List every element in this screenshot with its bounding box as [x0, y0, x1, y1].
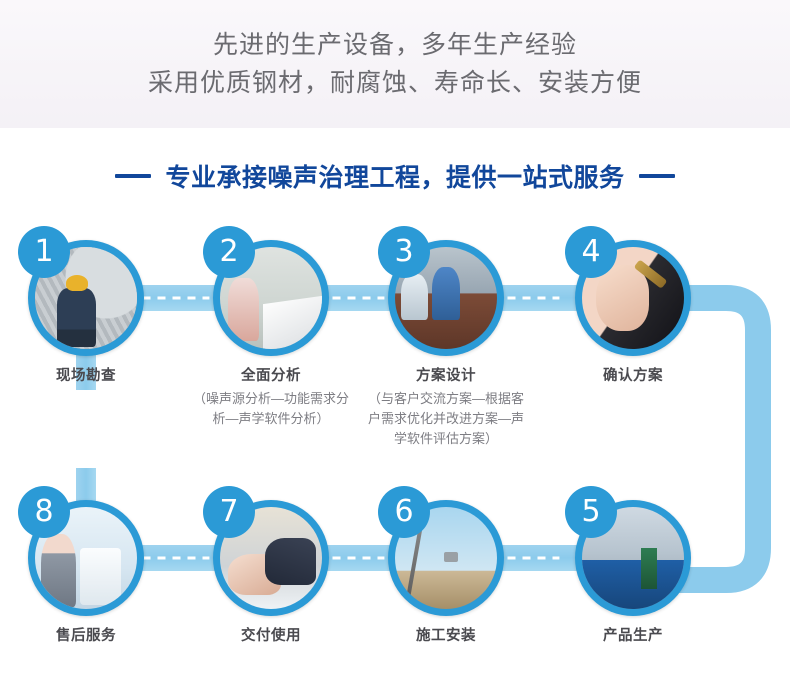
- node-badge-6: 6: [378, 486, 430, 538]
- node-title: 确认方案: [513, 364, 753, 385]
- title-dash-right-icon: [639, 174, 675, 178]
- node-title: 产品生产: [513, 624, 753, 645]
- top-banner: 先进的生产设备，多年生产经验 采用优质钢材，耐腐蚀、寿命长、安装方便: [0, 0, 790, 128]
- node-desc: （与客户交流方案—根据客户需求优化并改进方案—声学软件评估方案）: [368, 389, 524, 449]
- node-label-4: 确认方案: [513, 364, 753, 385]
- banner-line-1: 先进的生产设备，多年生产经验: [213, 26, 577, 64]
- connector-dash-icon: [142, 297, 209, 300]
- node-badge-4: 4: [565, 226, 617, 278]
- node-badge-7: 7: [203, 486, 255, 538]
- node-badge-1: 1: [18, 226, 70, 278]
- section-title: 专业承接噪声治理工程，提供一站式服务: [0, 158, 790, 194]
- section-title-text: 专业承接噪声治理工程，提供一站式服务: [165, 158, 624, 194]
- node-badge-8: 8: [18, 486, 70, 538]
- node-label-5: 产品生产: [513, 624, 753, 645]
- title-dash-left-icon: [115, 174, 151, 178]
- connector-dash-icon: [142, 557, 209, 560]
- banner-line-2: 采用优质钢材，耐腐蚀、寿命长、安装方便: [148, 64, 642, 102]
- node-badge-2: 2: [203, 226, 255, 278]
- node-badge-5: 5: [565, 486, 617, 538]
- node-badge-3: 3: [378, 226, 430, 278]
- flow-diagram: 1 现场勘查 2 全面分析 （噪声源分析—功能需求分析—声学软件分析） 3: [0, 210, 790, 687]
- process-flow-page: 先进的生产设备，多年生产经验 采用优质钢材，耐腐蚀、寿命长、安装方便 专业承接噪…: [0, 0, 790, 687]
